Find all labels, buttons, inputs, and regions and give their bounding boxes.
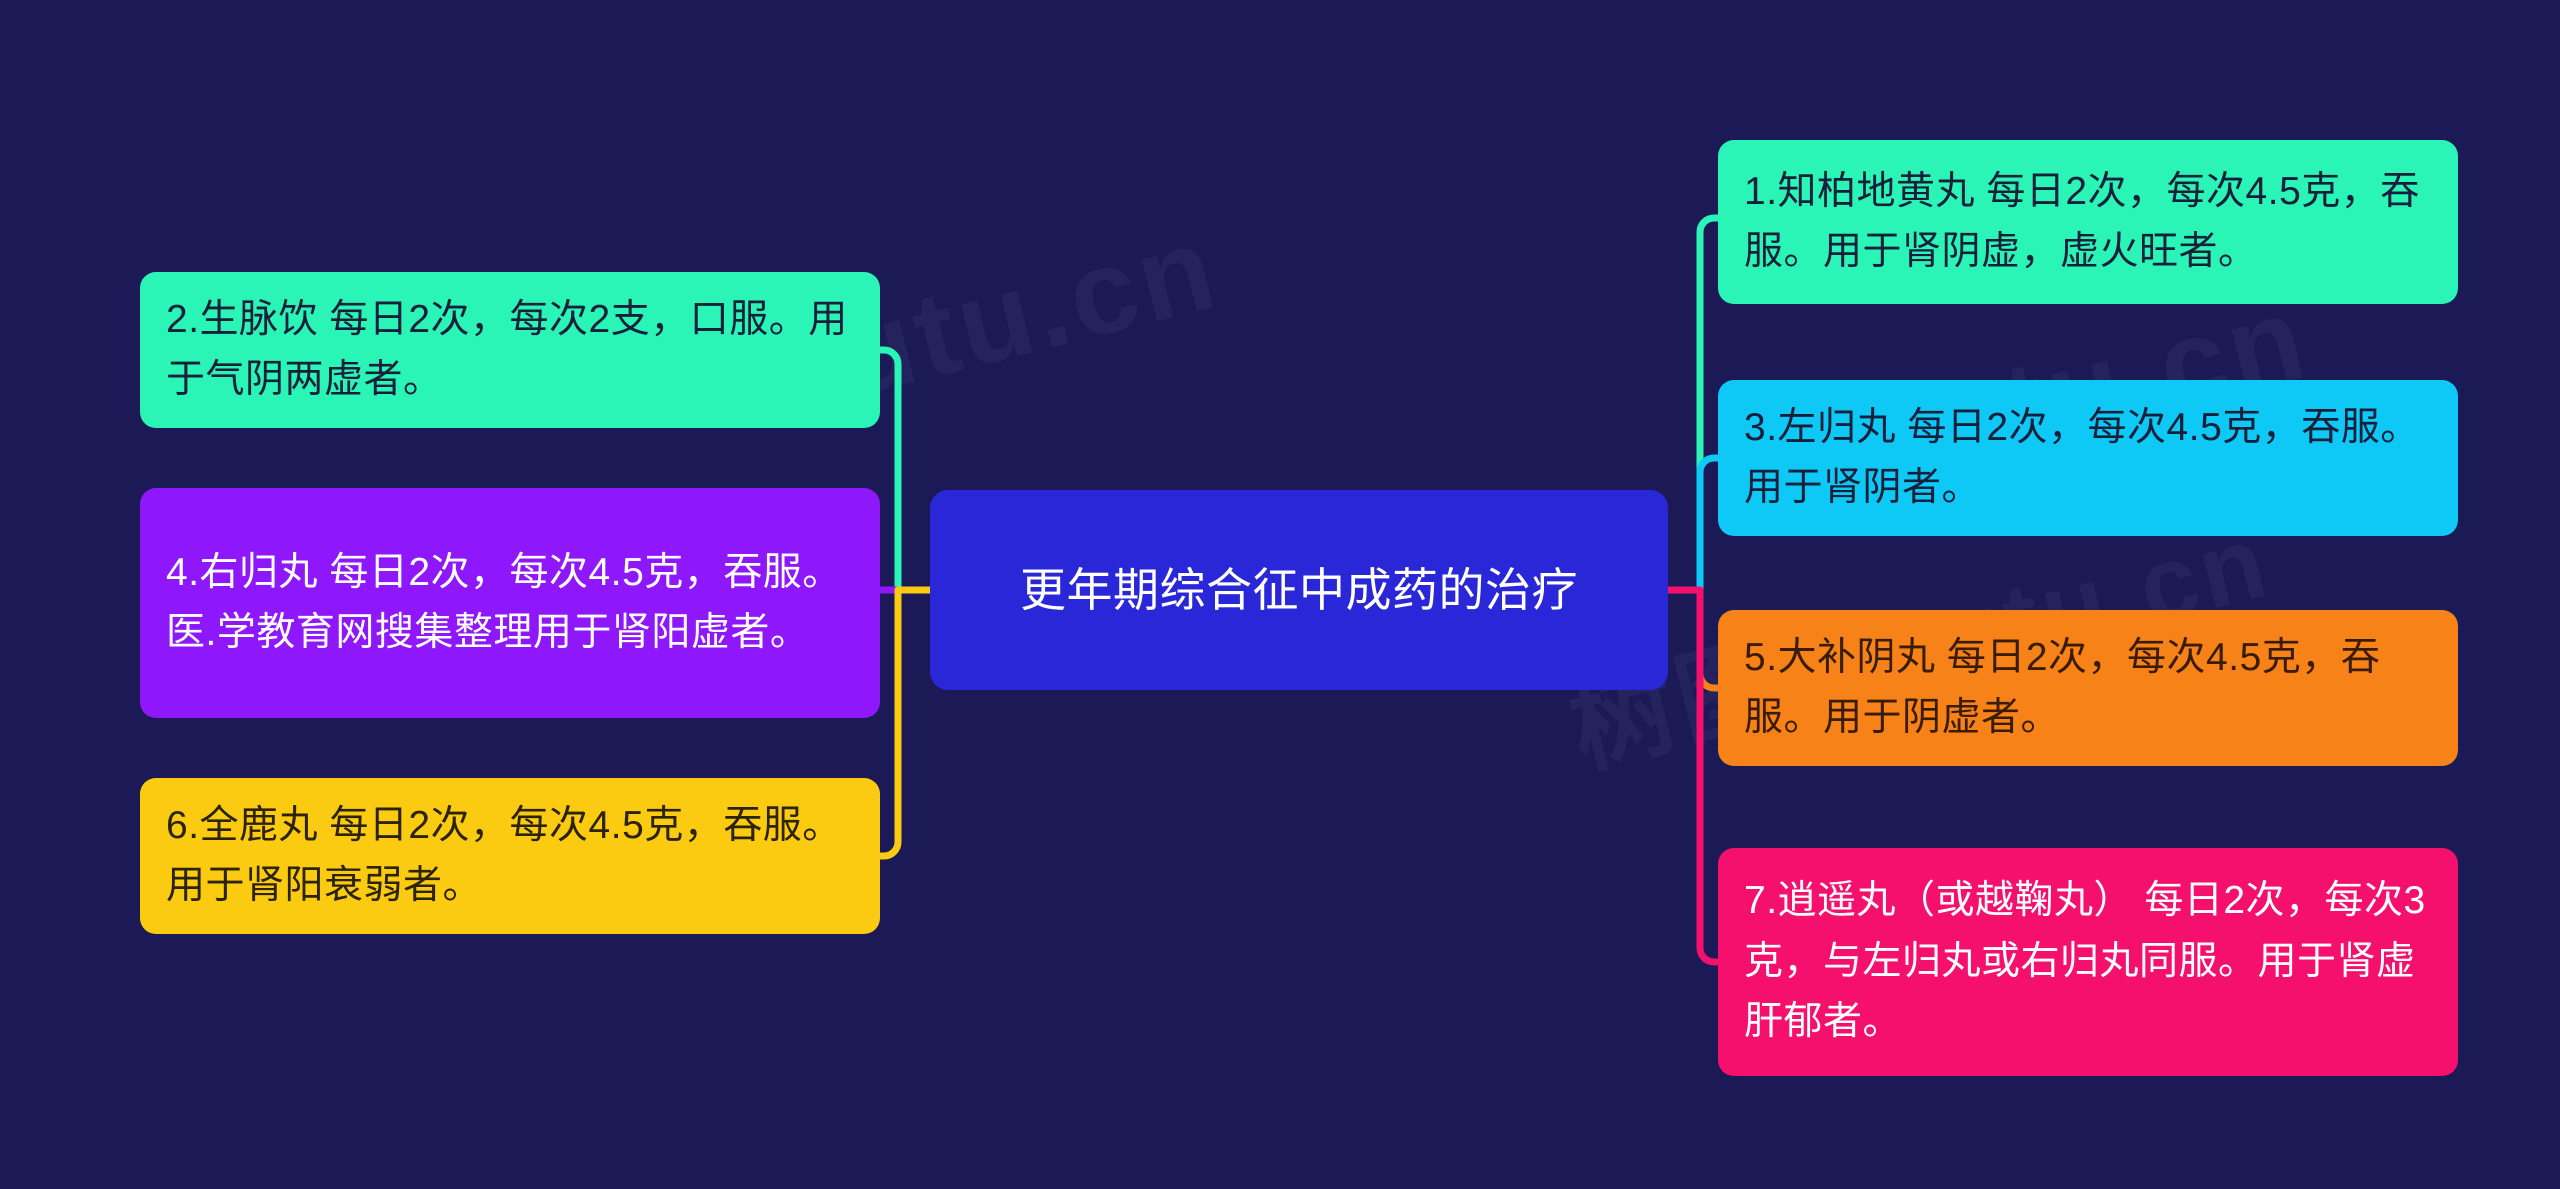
branch-node-1-label: 1.知柏地黄丸 每日2次，每次4.5克，吞服。用于肾阴虚，虚火旺者。: [1744, 162, 2432, 283]
branch-node-4-label: 4.右归丸 每日2次，每次4.5克，吞服。医.学教育网搜集整理用于肾阳虚者。: [166, 543, 854, 664]
branch-node-3-label: 3.左归丸 每日2次，每次4.5克，吞服。用于肾阴者。: [1744, 398, 2432, 519]
branch-node-6[interactable]: 6.全鹿丸 每日2次，每次4.5克，吞服。用于肾阳衰弱者。: [140, 778, 880, 934]
branch-node-7[interactable]: 7.逍遥丸（或越鞠丸） 每日2次，每次3克，与左归丸或右归丸同服。用于肾虚肝郁者…: [1718, 848, 2458, 1076]
root-node[interactable]: 更年期综合征中成药的治疗: [930, 490, 1668, 690]
branch-node-5-label: 5.大补阴丸 每日2次，每次4.5克，吞服。用于阴虚者。: [1744, 628, 2432, 749]
branch-node-2-label: 2.生脉饮 每日2次，每次2支，口服。用于气阴两虚者。: [166, 290, 854, 411]
mindmap-canvas: shutu.cn shutu.cn 树图 shutu.cn 树图 更年期综合征中…: [0, 0, 2560, 1189]
connector-branch-6: [880, 590, 930, 856]
connector-branch-2: [880, 350, 930, 590]
branch-node-2[interactable]: 2.生脉饮 每日2次，每次2支，口服。用于气阴两虚者。: [140, 272, 880, 428]
branch-node-5[interactable]: 5.大补阴丸 每日2次，每次4.5克，吞服。用于阴虚者。: [1718, 610, 2458, 766]
branch-node-4[interactable]: 4.右归丸 每日2次，每次4.5克，吞服。医.学教育网搜集整理用于肾阳虚者。: [140, 488, 880, 718]
branch-node-6-label: 6.全鹿丸 每日2次，每次4.5克，吞服。用于肾阳衰弱者。: [166, 796, 854, 917]
branch-node-3[interactable]: 3.左归丸 每日2次，每次4.5克，吞服。用于肾阴者。: [1718, 380, 2458, 536]
connector-branch-1: [1668, 218, 1718, 590]
connector-branch-3: [1668, 458, 1718, 590]
branch-node-7-label: 7.逍遥丸（或越鞠丸） 每日2次，每次3克，与左归丸或右归丸同服。用于肾虚肝郁者…: [1744, 871, 2432, 1052]
branch-node-1[interactable]: 1.知柏地黄丸 每日2次，每次4.5克，吞服。用于肾阴虚，虚火旺者。: [1718, 140, 2458, 304]
root-node-label: 更年期综合征中成药的治疗: [956, 557, 1642, 624]
connector-branch-7: [1668, 590, 1718, 962]
connector-branch-5: [1668, 590, 1718, 688]
